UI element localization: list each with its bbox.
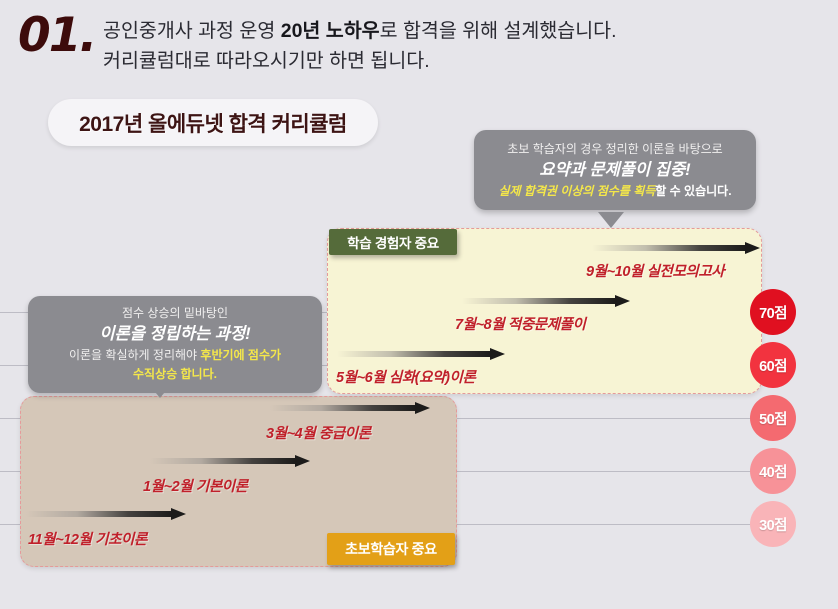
score-badge-30: 30점 [750, 501, 796, 547]
step-label-2: 1월~2월 기본이론 [143, 475, 248, 496]
callout-left-line-4: 수직상승 합니다. [38, 365, 312, 384]
curriculum-title-pill: 2017년 올에듀넷 합격 커리큘럼 [48, 99, 378, 146]
arrow-step-1 [26, 508, 186, 520]
step-label-1: 11월~12월 기초이론 [28, 528, 147, 549]
callout-beginner: 점수 상승의 밑바탕인 이론을 정립하는 과정! 이론을 확실하게 정리해야 후… [28, 296, 322, 393]
score-badge-40: 40점 [750, 448, 796, 494]
step-label-4: 5월~6월 심화(요약)이론 [336, 366, 475, 387]
callout-left-line-3: 이론을 확실하게 정리해야 후반기에 점수가 [38, 346, 312, 365]
callout-experienced: 초보 학습자의 경우 정리한 이론을 바탕으로 요약과 문제풀이 집중! 실제 … [474, 130, 756, 210]
header-text-block: 공인중개사 과정 운영 20년 노하우로 합격을 위해 설계했습니다. 커리큘럼… [103, 16, 803, 76]
score-badge-70: 70점 [750, 289, 796, 335]
header-line-2: 커리큘럼대로 따라오시기만 하면 됩니다. [103, 46, 803, 76]
score-badge-50: 50점 [750, 395, 796, 441]
callout-right-line-1: 초보 학습자의 경우 정리한 이론을 바탕으로 [484, 141, 746, 158]
step-label-5: 7월~8월 적중문제풀이 [455, 313, 586, 334]
arrow-step-4 [337, 348, 505, 360]
callout-right-line-3: 실제 합격권 이상의 점수를 획득할 수 있습니다. [484, 182, 746, 200]
callout-left-line-2: 이론을 정립하는 과정! [38, 322, 312, 346]
infographic-canvas: 01. 공인중개사 과정 운영 20년 노하우로 합격을 위해 설계했습니다. … [0, 0, 838, 609]
arrow-step-6 [592, 242, 760, 254]
callout-right-line-2: 요약과 문제풀이 집중! [484, 158, 746, 182]
header-line-1-part-c: 로 합격을 위해 설계했습니다. [380, 20, 617, 42]
header-line-1: 공인중개사 과정 운영 20년 노하우로 합격을 위해 설계했습니다. [103, 16, 803, 46]
header-line-1-part-a: 공인중개사 과정 운영 [103, 20, 281, 42]
arrow-step-2 [150, 455, 310, 467]
curriculum-title-label: 2017년 올에듀넷 합격 커리큘럼 [48, 99, 378, 146]
badge-beginner[interactable]: 초보학습자 중요 [327, 533, 455, 565]
callout-left-line-4-highlight: 수직상승 합니다. [133, 367, 217, 381]
callout-left-pointer-icon [147, 382, 173, 398]
header-line-1-emphasis: 20년 노하우 [281, 20, 380, 42]
callout-right-line-3-tail: 할 수 있습니다. [655, 184, 731, 198]
callout-right-line-3-highlight: 실제 합격권 이상의 점수를 획득 [498, 184, 655, 198]
callout-left-line-3-plain: 이론을 확실하게 정리해야 [69, 348, 200, 362]
callout-left-line-3-highlight: 후반기에 점수가 [200, 348, 281, 362]
arrow-step-3 [270, 402, 430, 414]
callout-right-pointer-icon [598, 212, 624, 228]
section-number: 01. [18, 8, 95, 63]
step-label-6: 9월~10월 실전모의고사 [586, 260, 724, 281]
arrow-step-5 [462, 295, 630, 307]
badge-experienced[interactable]: 학습 경험자 중요 [329, 229, 457, 255]
score-badge-60: 60점 [750, 342, 796, 388]
step-label-3: 3월~4월 중급이론 [266, 422, 371, 443]
callout-left-line-1: 점수 상승의 밑바탕인 [38, 305, 312, 322]
